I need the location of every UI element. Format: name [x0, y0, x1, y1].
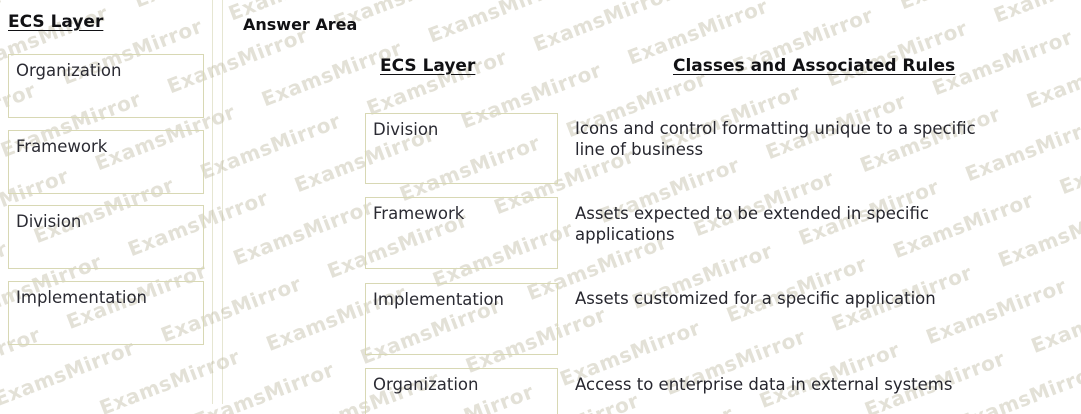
rule-text-row-4: Access to enterprise data in external sy… — [575, 374, 1005, 395]
rule-text-row-2: Assets expected to be extended in specif… — [575, 203, 975, 245]
answer-column-heading-rules: Classes and Associated Rules — [673, 56, 955, 76]
answer-slot-label: Organization — [373, 375, 479, 394]
source-option-framework[interactable]: Framework — [8, 130, 204, 194]
answer-slot-organization[interactable]: Organization — [365, 368, 558, 414]
answer-slot-framework[interactable]: Framework — [365, 197, 558, 269]
answer-slot-label: Implementation — [373, 290, 504, 309]
source-option-label: Framework — [16, 137, 107, 156]
answer-column-heading-layer: ECS Layer — [380, 56, 475, 76]
source-option-organization[interactable]: Organization — [8, 54, 204, 118]
source-option-division[interactable]: Division — [8, 205, 204, 269]
source-option-implementation[interactable]: Implementation — [8, 281, 204, 345]
question-page: ECS Layer Organization Framework Divisio… — [0, 0, 1081, 414]
divider-rail-left — [212, 0, 213, 404]
rule-text-row-3: Assets customized for a specific applica… — [575, 288, 1005, 309]
source-panel-heading: ECS Layer — [8, 12, 103, 32]
source-option-label: Division — [16, 212, 81, 231]
rule-text-row-1: Icons and control formatting unique to a… — [575, 118, 995, 160]
answer-slot-label: Division — [373, 120, 438, 139]
source-option-label: Implementation — [16, 288, 147, 307]
divider-rail-right — [222, 0, 223, 404]
answer-slot-implementation[interactable]: Implementation — [365, 283, 558, 355]
answer-slot-label: Framework — [373, 204, 464, 223]
answer-slot-division[interactable]: Division — [365, 113, 558, 184]
source-option-label: Organization — [16, 61, 122, 80]
answer-area-heading: Answer Area — [243, 15, 357, 34]
